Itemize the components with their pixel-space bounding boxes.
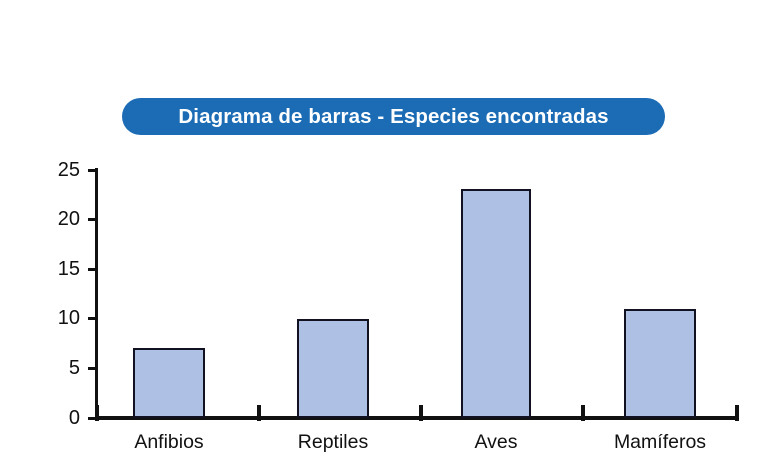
x-axis-label-reptiles: Reptiles: [263, 431, 403, 454]
y-axis-label-10: 10: [34, 308, 80, 328]
x-axis-label-mamiferos: Mamíferos: [590, 431, 730, 454]
bar-reptiles[interactable]: [297, 319, 369, 418]
x-axis-label-anfibios: Anfibios: [99, 431, 239, 454]
y-tick-25: [88, 169, 96, 172]
x-tick-3: [581, 405, 585, 421]
chart-page: Diagrama de barras - Especies encontrada…: [0, 0, 770, 474]
y-tick-10: [88, 317, 96, 320]
y-axis-label-0: 0: [34, 408, 80, 428]
y-axis-label-15: 15: [34, 259, 80, 279]
y-axis-label-5: 5: [34, 358, 80, 378]
y-tick-15: [88, 268, 96, 271]
bar-anfibios[interactable]: [133, 348, 205, 418]
bar-aves[interactable]: [461, 189, 531, 418]
x-tick-origin: [95, 405, 99, 421]
x-axis-label-aves: Aves: [426, 431, 566, 454]
y-axis-label-20: 20: [34, 209, 80, 229]
y-tick-20: [88, 218, 96, 221]
x-tick-2: [419, 405, 423, 421]
y-tick-5: [88, 367, 96, 370]
y-axis-line: [95, 168, 98, 420]
bar-mamiferos[interactable]: [624, 309, 696, 418]
y-axis-label-25: 25: [34, 160, 80, 180]
x-tick-1: [257, 405, 261, 421]
bar-chart-plot-area: 0 5 10 15 20 25 Anfibios Reptiles Aves: [0, 0, 770, 474]
x-tick-4: [735, 405, 739, 421]
